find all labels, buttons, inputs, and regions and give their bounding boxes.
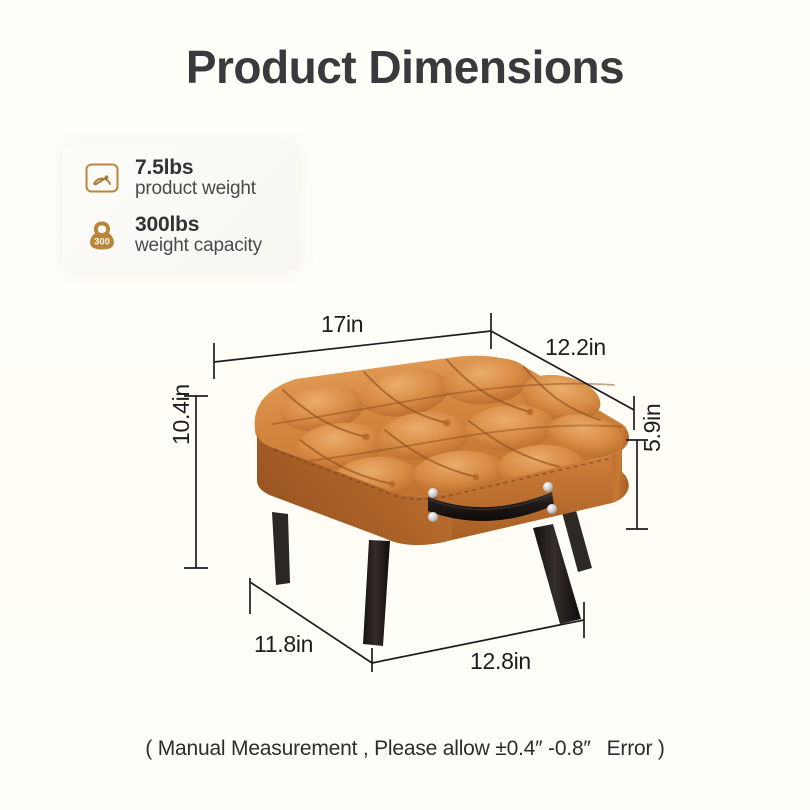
spec-value-weight-capacity: 300lbs [135, 214, 262, 236]
ottoman-legs [272, 503, 592, 646]
measurement-disclaimer: ( Manual Measurement , Please allow ±0.4… [0, 737, 810, 761]
spec-text-product-weight: 7.5lbs product weight [135, 157, 256, 199]
handle-rivet [543, 482, 553, 492]
page-title: Product Dimensions [0, 40, 810, 94]
kettlebell-icon-value: 300 [94, 235, 110, 246]
handle-rivet [547, 504, 557, 514]
dimension-label-base-depth: 11.8in [254, 631, 313, 658]
handle-rivet [428, 488, 438, 498]
ottoman-handle [428, 482, 557, 522]
spec-value-product-weight: 7.5lbs [135, 157, 256, 179]
infographic-canvas: Product Dimensions 7.5lbs product weight… [0, 0, 810, 810]
dimension-label-seat-height: 5.9in [639, 404, 666, 452]
product-dimension-figure [0, 0, 810, 810]
spec-label-product-weight: product weight [135, 179, 256, 199]
spec-badge: 7.5lbs product weight 300 300lbs weight … [62, 141, 300, 272]
gauge-scale-icon [82, 158, 122, 198]
ottoman-body [255, 354, 629, 546]
dimension-label-top-depth: 12.2in [545, 334, 606, 361]
spec-text-weight-capacity: 300lbs weight capacity [135, 214, 262, 256]
dimension-label-top-width: 17in [321, 311, 363, 338]
dimension-label-base-width: 12.8in [470, 648, 531, 675]
dimension-label-total-height: 10.4in [168, 384, 195, 445]
spec-row-product-weight: 7.5lbs product weight [82, 157, 256, 199]
spec-label-weight-capacity: weight capacity [135, 236, 262, 256]
spec-row-weight-capacity: 300 300lbs weight capacity [82, 214, 262, 256]
handle-rivet [428, 512, 438, 522]
kettlebell-icon: 300 [82, 215, 122, 255]
dimension-lines [184, 313, 648, 672]
